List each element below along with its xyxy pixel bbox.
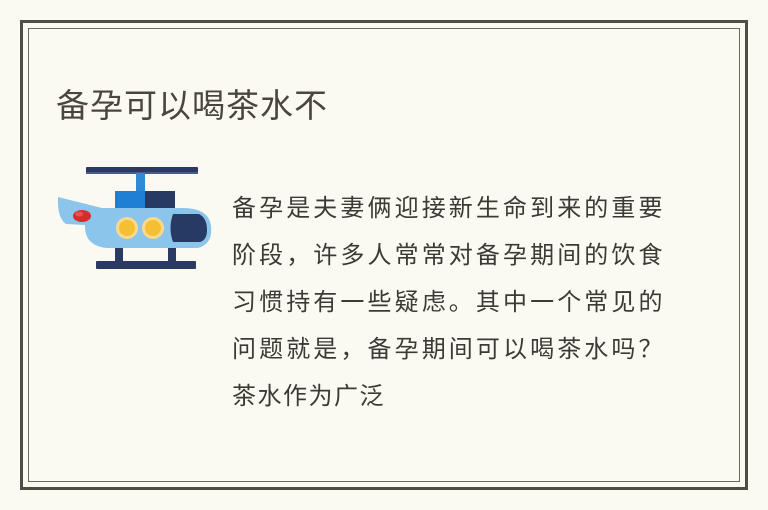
landing-skid xyxy=(96,261,196,269)
cockpit-window xyxy=(171,214,208,242)
engine-housing-left xyxy=(115,191,145,209)
article-body: 备孕是夫妻俩迎接新生命到来的重要阶段，许多人常常对备孕期间的饮食习惯持有一些疑虑… xyxy=(232,186,664,421)
helicopter-illustration xyxy=(52,160,224,278)
rotor-mast xyxy=(136,173,145,193)
landing-strut-right xyxy=(168,248,176,262)
helicopter-icon xyxy=(52,160,224,278)
passenger-window-1 xyxy=(119,220,135,236)
tail-light-icon xyxy=(73,210,91,222)
page-title: 备孕可以喝茶水不 xyxy=(56,84,328,128)
tail-light-highlight xyxy=(75,212,83,217)
engine-housing-right xyxy=(145,191,175,209)
landing-strut-left xyxy=(115,248,123,262)
passenger-window-2 xyxy=(145,220,161,236)
article-page: 备孕可以喝茶水不 xyxy=(0,0,768,510)
